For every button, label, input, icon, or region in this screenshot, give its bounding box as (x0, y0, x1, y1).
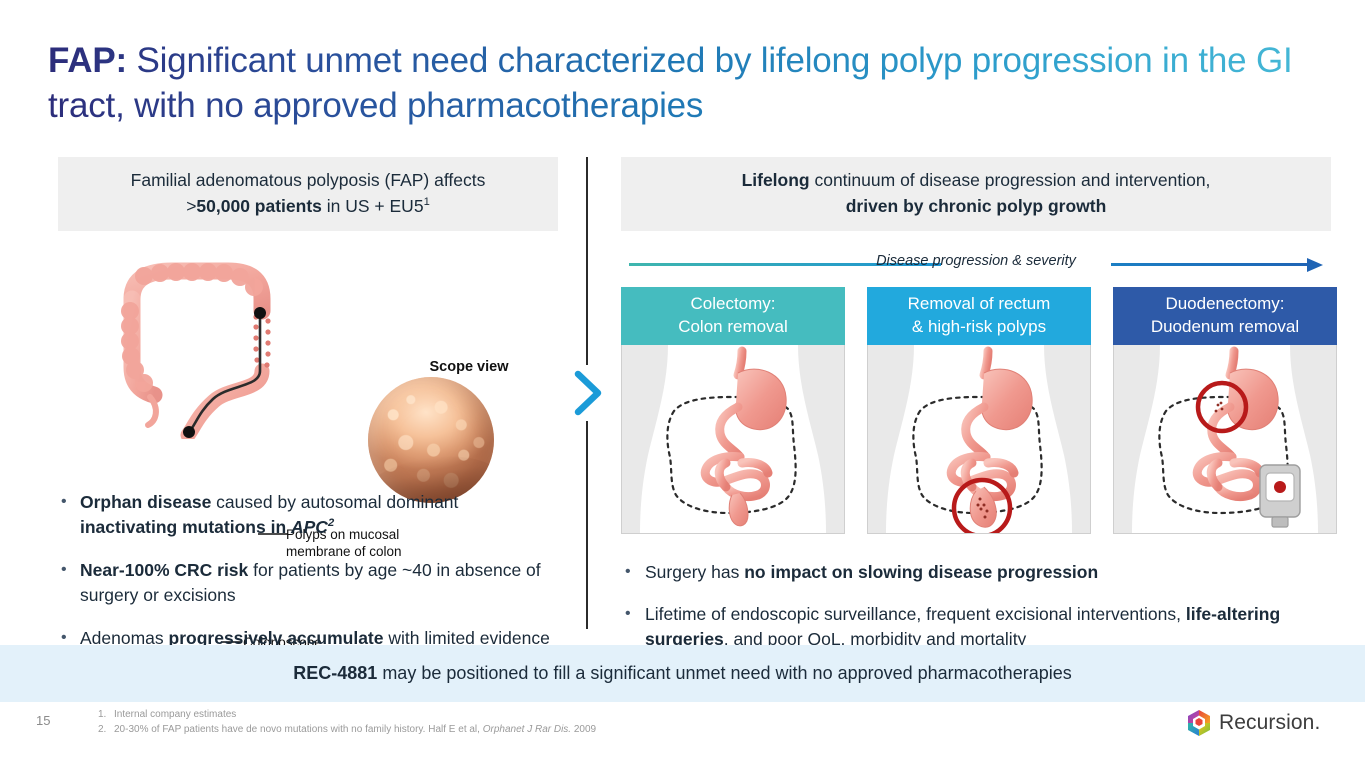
left-header-patients-count: 50,000 patients (196, 196, 321, 216)
panel-colectomy-title-line1: Colectomy: (625, 293, 841, 316)
page-number: 15 (36, 713, 50, 728)
right-header-emphasis: Lifelong (742, 170, 810, 190)
arrow-head-icon (1307, 258, 1323, 272)
scope-view-title: Scope view (389, 359, 549, 375)
left-header-line2: >50,000 patients in US + EU51 (72, 193, 544, 219)
column-divider-top (586, 157, 588, 365)
footnote-item: 1.Internal company estimates (98, 707, 596, 722)
chevron-right-icon (572, 368, 606, 418)
footnote-text: Internal company estimates (114, 709, 236, 720)
disease-progression-arrow: Disease progression & severity (621, 253, 1331, 279)
page-title: FAP: Significant unmet need characterize… (48, 38, 1298, 128)
footnotes: 1.Internal company estimates 2.20-30% of… (98, 707, 596, 737)
panel-colectomy: Colectomy: Colon removal (621, 287, 845, 534)
column-divider-bottom (586, 421, 588, 629)
left-header-region: in US + EU5 (322, 196, 424, 216)
right-panel-header: Lifelong continuum of disease progressio… (621, 157, 1331, 231)
list-item: Surgery has no impact on slowing disease… (621, 560, 1331, 585)
left-column: Familial adenomatous polyposis (FAP) aff… (58, 157, 558, 694)
right-header-rest: continuum of disease progression and int… (810, 170, 1211, 190)
panel-colectomy-header: Colectomy: Colon removal (621, 287, 845, 345)
panel-rectum-title-line1: Removal of rectum (871, 293, 1087, 316)
polyps-label-line2: membrane of colon (286, 544, 402, 559)
right-header-line2-emphasis: driven by chronic polyp growth (846, 196, 1107, 216)
right-header-line1: Lifelong continuum of disease progressio… (635, 167, 1317, 193)
left-header-footnote-ref: 1 (424, 196, 430, 208)
colon-illustration-group: Polyps on mucosal membrane of colon Colo… (58, 259, 558, 434)
panel-colectomy-title-line2: Colon removal (625, 316, 841, 339)
footnote-item: 2.20-30% of FAP patients have de novo mu… (98, 722, 596, 737)
right-header-line2: driven by chronic polyp growth (635, 193, 1317, 219)
left-header-line1: Familial adenomatous polyposis (FAP) aff… (72, 167, 544, 193)
panel-rectum-illustration (867, 345, 1091, 534)
panel-duodenectomy: Duodenectomy: Duodenum removal (1113, 287, 1337, 534)
footnote-number: 1. (98, 707, 114, 722)
arrow-line-right (1111, 263, 1309, 266)
recursion-logo: Recursion. (1186, 709, 1320, 737)
panel-colectomy-illustration (621, 345, 845, 534)
left-panel-header: Familial adenomatous polyposis (FAP) aff… (58, 157, 558, 231)
footnote-text: 20-30% of FAP patients have de novo muta… (114, 724, 596, 735)
right-bullet-list: Surgery has no impact on slowing disease… (621, 560, 1331, 652)
footer-banner-rest: may be positioned to fill a significant … (377, 663, 1071, 683)
right-column: Lifelong continuum of disease progressio… (621, 157, 1331, 669)
recursion-logo-text: Recursion. (1219, 711, 1320, 735)
list-item: Orphan disease caused by autosomal domin… (58, 490, 558, 540)
recursion-hexagon-icon (1186, 709, 1212, 737)
ostomy-device-icon (1260, 465, 1300, 527)
panel-duodenectomy-illustration (1113, 345, 1337, 534)
panel-rectum-removal: Removal of rectum & high-risk polyps (867, 287, 1091, 534)
disease-progression-label: Disease progression & severity (621, 253, 1331, 269)
panel-rectum-removal-header: Removal of rectum & high-risk polyps (867, 287, 1091, 345)
footnote-number: 2. (98, 722, 114, 737)
scope-view-image (368, 377, 494, 503)
panel-rectum-title-line2: & high-risk polyps (871, 316, 1087, 339)
surgery-panels: Colectomy: Colon removal (621, 287, 1331, 534)
footer-banner-product: REC-4881 (293, 663, 377, 683)
panel-duodenectomy-title-line1: Duodenectomy: (1117, 293, 1333, 316)
footer-banner: REC-4881 may be positioned to fill a sig… (0, 645, 1365, 702)
page-title-rest: Significant unmet need characterized by … (48, 41, 1293, 125)
left-header-prefix: > (186, 196, 196, 216)
panel-duodenectomy-header: Duodenectomy: Duodenum removal (1113, 287, 1337, 345)
list-item: Near-100% CRC risk for patients by age ~… (58, 558, 558, 608)
colon-anatomy-icon (110, 259, 290, 444)
footer-banner-text: REC-4881 may be positioned to fill a sig… (293, 663, 1071, 684)
panel-duodenectomy-title-line2: Duodenum removal (1117, 316, 1333, 339)
page-title-lead: FAP: (48, 41, 127, 80)
